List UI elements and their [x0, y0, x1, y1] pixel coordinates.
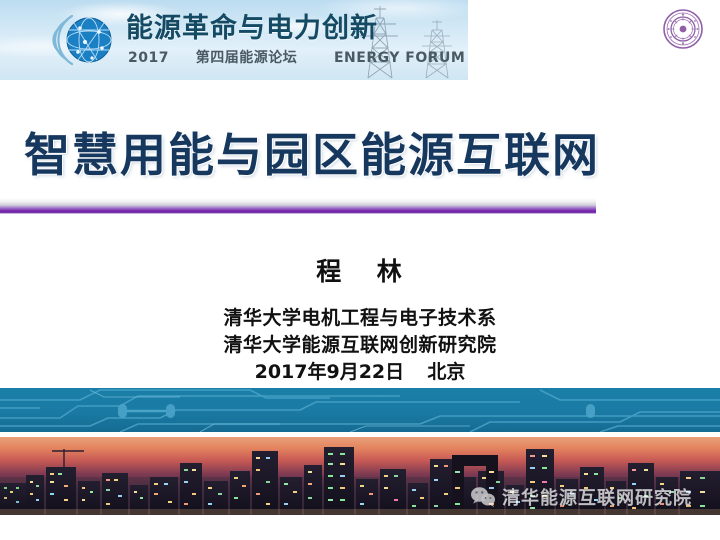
banner-forum-en: ENERGY FORUM: [334, 50, 465, 66]
banner-year: 2017: [128, 50, 169, 66]
circuit-decoration-band: [0, 388, 720, 432]
banner-title: 能源革命与电力创新: [126, 6, 378, 45]
affiliation-block: 清华大学电机工程与电子技术系 清华大学能源互联网创新研究院 2017年9月22日…: [0, 305, 720, 386]
affiliation-line-2: 清华大学能源互联网创新研究院: [0, 332, 720, 359]
wechat-watermark: 清华能源互联网研究院: [470, 484, 692, 510]
page-title: 智慧用能与园区能源互联网: [24, 126, 696, 184]
wechat-icon: [470, 486, 496, 508]
globe-network-icon: [52, 8, 116, 72]
forum-banner: 能源革命与电力创新 2017 第四届能源论坛 ENERGY FORUM: [0, 0, 468, 80]
circuit-trace-pattern: [0, 388, 720, 432]
author-surname: 程: [316, 257, 343, 286]
date-location-line: 2017年9月22日 北京: [0, 359, 720, 386]
author-name: 程 林: [0, 252, 720, 288]
presentation-slide: 能源革命与电力创新 2017 第四届能源论坛 ENERGY FORUM 智慧用能…: [0, 0, 720, 540]
presentation-location: 北京: [427, 361, 465, 383]
tsinghua-university-seal-icon: [662, 8, 704, 50]
affiliation-line-1: 清华大学电机工程与电子技术系: [0, 305, 720, 332]
banner-forum-cn: 第四届能源论坛: [196, 50, 298, 66]
watermark-label: 清华能源互联网研究院: [502, 484, 692, 510]
presentation-date: 2017年9月22日: [255, 361, 405, 383]
banner-subtitle: 2017 第四届能源论坛 ENERGY FORUM: [128, 47, 465, 67]
author-givenname: 林: [377, 257, 404, 286]
title-divider: [0, 198, 596, 214]
